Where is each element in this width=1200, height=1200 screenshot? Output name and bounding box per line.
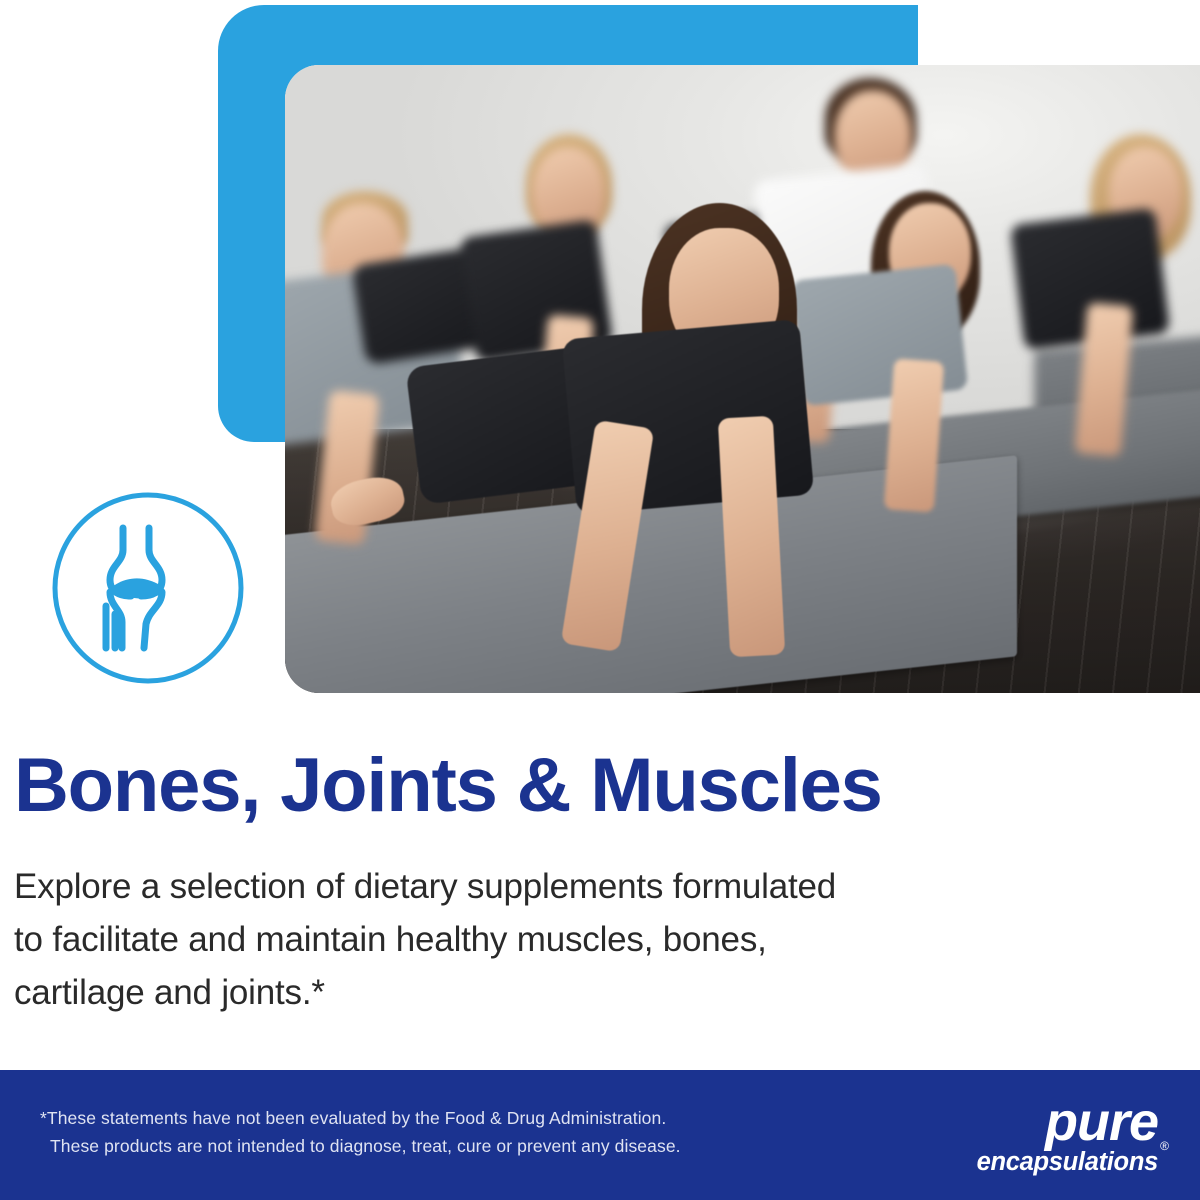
logo-wordmark-secondary-row: encapsulations ® <box>943 1150 1158 1176</box>
bone-joint-icon <box>48 488 248 688</box>
description-line-1: Explore a selection of dietary supplemen… <box>14 860 1144 913</box>
hero-section <box>0 0 1200 740</box>
pure-encapsulations-logo: pure encapsulations ® <box>943 1098 1158 1175</box>
page-description: Explore a selection of dietary supplemen… <box>14 860 1144 1020</box>
promo-banner: Bones, Joints & Muscles Explore a select… <box>0 0 1200 1200</box>
page-title: Bones, Joints & Muscles <box>14 748 1144 824</box>
description-line-2: to facilitate and maintain healthy muscl… <box>14 913 1144 966</box>
disclaimer-line-2: These products are not intended to diagn… <box>40 1132 800 1160</box>
copy-block: Bones, Joints & Muscles Explore a select… <box>14 748 1144 1020</box>
registered-trademark-icon: ® <box>1160 1139 1169 1153</box>
logo-wordmark-primary: pure <box>943 1098 1158 1148</box>
fda-disclaimer: *These statements have not been evaluate… <box>40 1104 800 1161</box>
person-arm <box>884 359 945 513</box>
hero-photo <box>285 65 1200 693</box>
disclaimer-line-1: *These statements have not been evaluate… <box>40 1104 800 1132</box>
description-line-3: cartilage and joints.* <box>14 966 1144 1019</box>
logo-wordmark-secondary: encapsulations <box>977 1148 1158 1176</box>
footer-bar: *These statements have not been evaluate… <box>0 1070 1200 1200</box>
